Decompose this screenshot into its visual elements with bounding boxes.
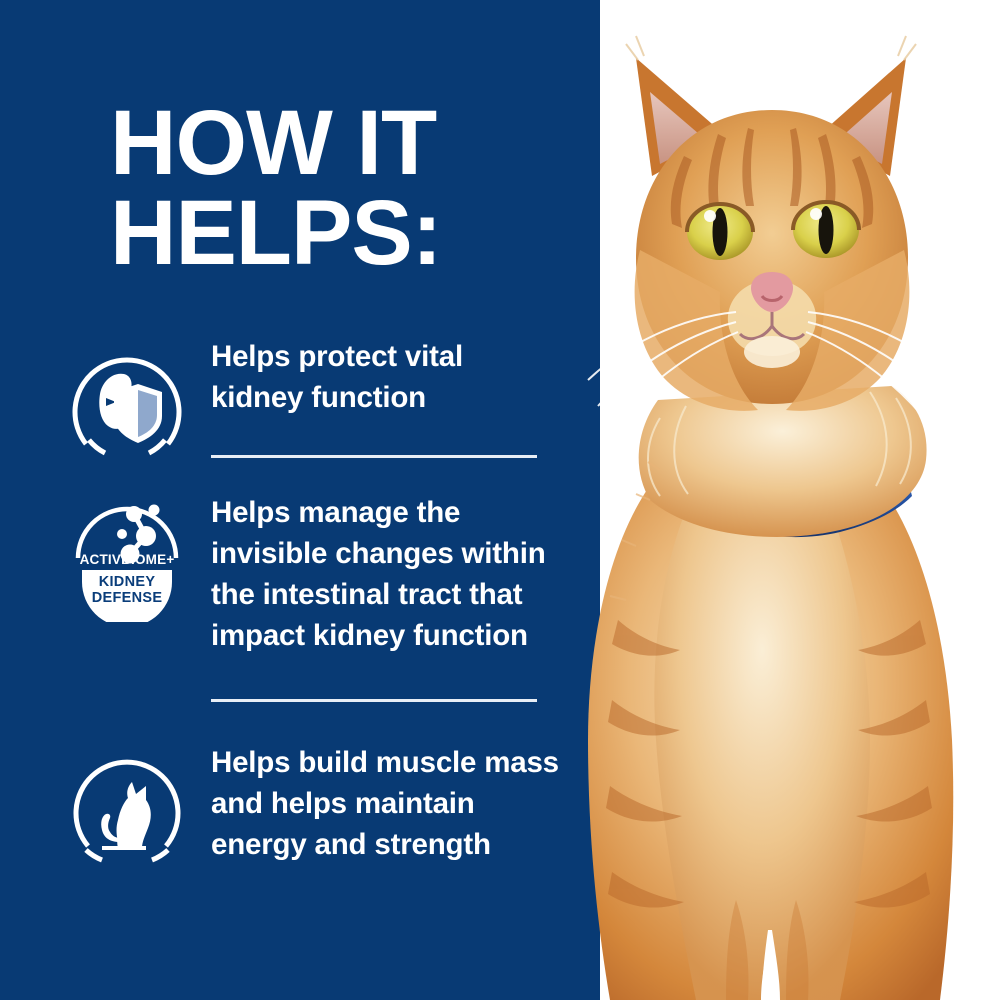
svg-text:ACTIVBIOME+: ACTIVBIOME+	[80, 552, 175, 567]
divider-1	[211, 455, 537, 458]
cat-photo	[540, 0, 1000, 1000]
svg-text:KIDNEY: KIDNEY	[99, 574, 156, 590]
page-title: HOW IT HELPS:	[110, 98, 580, 278]
benefit-text-2: Helps manage the invisible changes withi…	[211, 492, 583, 656]
sitting-cat-circle-icon	[62, 742, 192, 872]
activbiome-kidney-defense-badge-icon: ACTIVBIOME+ KIDNEY DEFENSE	[62, 492, 192, 622]
svg-text:DEFENSE: DEFENSE	[92, 590, 163, 606]
benefit-text-1: Helps protect vital kidney function	[211, 336, 583, 418]
promo-graphic: HOW IT HELPS: Helps protect vital kidney…	[0, 0, 1000, 1000]
benefit-text-3: Helps build muscle mass and helps mainta…	[211, 742, 583, 865]
divider-2	[211, 699, 537, 702]
kidney-shield-icon	[62, 336, 192, 466]
